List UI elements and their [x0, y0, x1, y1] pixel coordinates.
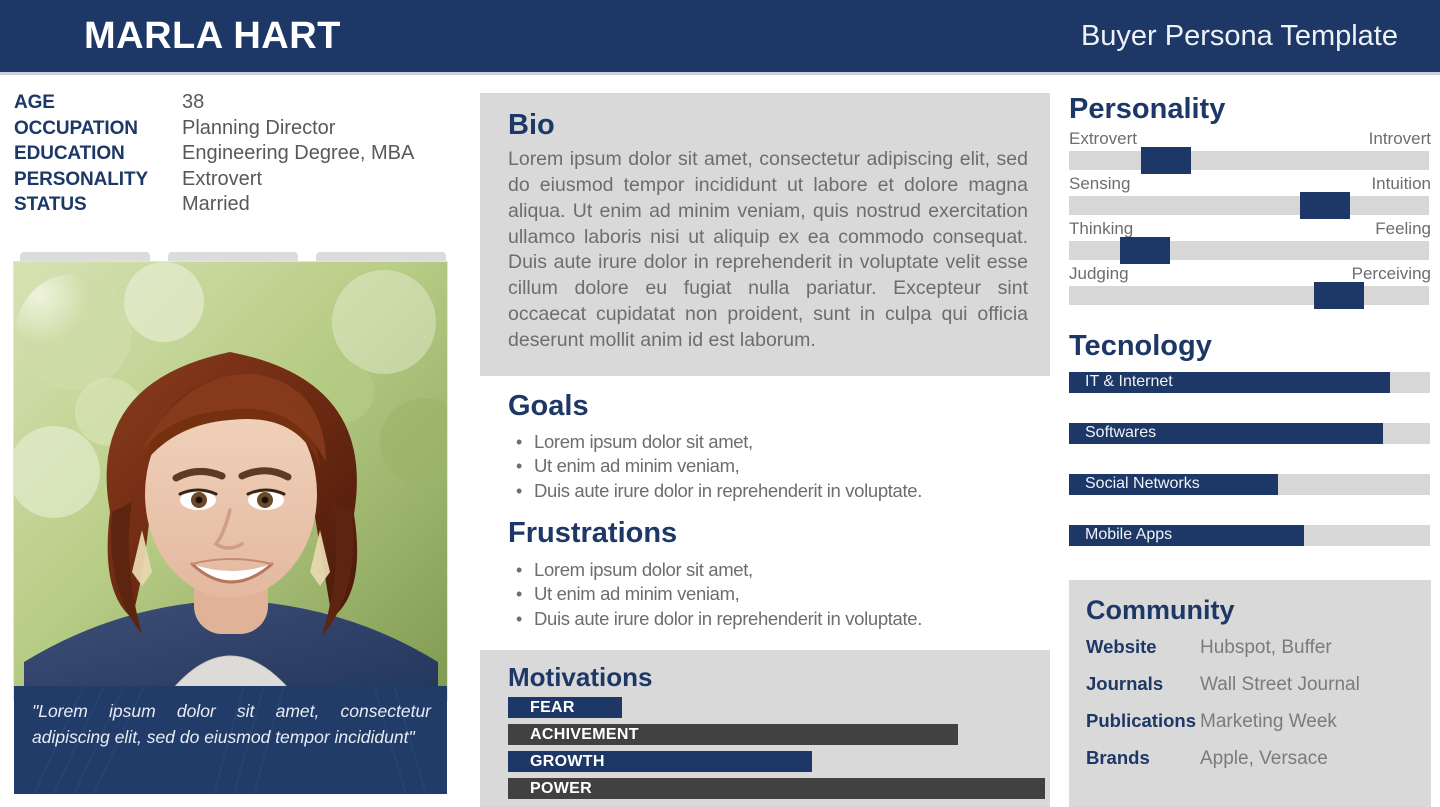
community-row: BrandsApple, Versace — [1086, 747, 1431, 770]
attribute-key: EDUCATION — [14, 141, 182, 167]
personality-slider[interactable]: JudgingPerceiving — [1069, 263, 1431, 305]
technology-label: Softwares — [1085, 423, 1156, 444]
community-panel: Community WebsiteHubspot, BufferJournals… — [1069, 580, 1431, 807]
slider-left-label: Judging — [1069, 263, 1129, 285]
slider-labels: ExtrovertIntrovert — [1069, 128, 1431, 150]
bullet-marker-icon: • — [510, 479, 534, 504]
community-row: JournalsWall Street Journal — [1086, 673, 1431, 696]
bullet-text: Lorem ipsum dolor sit amet, — [534, 430, 753, 455]
community-title: Community — [1086, 594, 1431, 626]
bullet-text: Lorem ipsum dolor sit amet, — [534, 558, 753, 583]
persona-photo — [14, 262, 447, 700]
persona-name: MARLA HART — [84, 17, 341, 55]
motivation-bar: GROWTH — [508, 751, 812, 772]
bullet-text: Duis aute irure dolor in reprehenderit i… — [534, 607, 922, 632]
bullet-text: Ut enim ad minim veniam, — [534, 454, 739, 479]
motivation-bar: ACHIVEMENT — [508, 724, 958, 745]
community-key: Publications — [1086, 710, 1200, 732]
bullet-marker-icon: • — [510, 558, 534, 583]
technology-title: Tecnology — [1069, 330, 1431, 363]
community-key: Brands — [1086, 747, 1200, 769]
attribute-key: OCCUPATION — [14, 116, 182, 142]
personality-slider[interactable]: SensingIntuition — [1069, 173, 1431, 215]
persona-quote: "Lorem ipsum dolor sit amet, consectetur… — [14, 686, 447, 794]
slider-labels: JudgingPerceiving — [1069, 263, 1431, 285]
motivations-bars: FEARACHIVEMENTGROWTHPOWER — [508, 697, 1050, 799]
attribute-key: AGE — [14, 90, 182, 116]
portrait-illustration — [14, 262, 447, 700]
technology-track: Mobile Apps — [1069, 525, 1430, 546]
slider-thumb[interactable] — [1120, 237, 1170, 264]
attribute-value: Planning Director — [182, 116, 335, 142]
motivation-bar: FEAR — [508, 697, 622, 718]
slider-right-label: Feeling — [1375, 218, 1431, 240]
slider-left-label: Extrovert — [1069, 128, 1137, 150]
community-key: Journals — [1086, 673, 1200, 695]
technology-bars: IT & InternetSoftwaresSocial NetworksMob… — [1069, 372, 1431, 546]
attribute-row: AGE38 — [14, 90, 462, 116]
attribute-value: Married — [182, 192, 250, 218]
technology-track: IT & Internet — [1069, 372, 1430, 393]
slider-track[interactable] — [1069, 196, 1429, 215]
motivation-bar: POWER — [508, 778, 1045, 799]
attribute-row: STATUSMarried — [14, 192, 462, 218]
frustrations-list: •Lorem ipsum dolor sit amet,•Ut enim ad … — [510, 558, 1028, 632]
header-bar: MARLA HART Buyer Persona Template — [0, 0, 1440, 72]
community-value: Hubspot, Buffer — [1200, 637, 1332, 659]
technology-label: Mobile Apps — [1085, 525, 1172, 546]
quote-text: "Lorem ipsum dolor sit amet, consectetur… — [32, 698, 431, 750]
slider-track[interactable] — [1069, 241, 1429, 260]
personality-slider[interactable]: ExtrovertIntrovert — [1069, 128, 1431, 170]
bio-title: Bio — [508, 107, 1028, 143]
frustration-item: •Lorem ipsum dolor sit amet, — [510, 558, 1028, 583]
header-divider — [0, 72, 1440, 75]
attribute-value: Engineering Degree, MBA — [182, 141, 414, 167]
community-rows: WebsiteHubspot, BufferJournalsWall Stree… — [1086, 636, 1431, 770]
slider-thumb[interactable] — [1314, 282, 1364, 309]
motivations-title: Motivations — [508, 662, 1050, 693]
slider-labels: SensingIntuition — [1069, 173, 1431, 195]
slider-right-label: Introvert — [1369, 128, 1431, 150]
attributes-table: AGE38OCCUPATIONPlanning DirectorEDUCATIO… — [14, 90, 462, 218]
persona-template-page: MARLA HART Buyer Persona Template AGE38O… — [0, 0, 1440, 807]
technology-track: Social Networks — [1069, 474, 1430, 495]
bullet-text: Ut enim ad minim veniam, — [534, 582, 739, 607]
template-title: Buyer Persona Template — [1081, 22, 1398, 51]
technology-label: Social Networks — [1085, 474, 1200, 495]
slider-thumb[interactable] — [1141, 147, 1191, 174]
slider-left-label: Sensing — [1069, 173, 1130, 195]
technology-track: Softwares — [1069, 423, 1430, 444]
content-column: Bio Lorem ipsum dolor sit amet, consecte… — [480, 93, 1050, 631]
bio-text: Lorem ipsum dolor sit amet, consectetur … — [508, 147, 1028, 353]
community-row: PublicationsMarketing Week — [1086, 710, 1431, 733]
bullet-marker-icon: • — [510, 430, 534, 455]
bullet-marker-icon: • — [510, 454, 534, 479]
attribute-row: OCCUPATIONPlanning Director — [14, 116, 462, 142]
community-value: Wall Street Journal — [1200, 674, 1360, 696]
slider-track[interactable] — [1069, 286, 1429, 305]
slider-track[interactable] — [1069, 151, 1429, 170]
goal-item: •Duis aute irure dolor in reprehenderit … — [510, 479, 1028, 504]
goal-item: •Ut enim ad minim veniam, — [510, 454, 1028, 479]
insights-column: Personality ExtrovertIntrovertSensingInt… — [1069, 93, 1431, 576]
bio-panel: Bio Lorem ipsum dolor sit amet, consecte… — [480, 93, 1050, 376]
frustration-item: •Duis aute irure dolor in reprehenderit … — [510, 607, 1028, 632]
community-key: Website — [1086, 636, 1200, 658]
bullet-marker-icon: • — [510, 607, 534, 632]
technology-label: IT & Internet — [1085, 372, 1173, 393]
personality-slider[interactable]: ThinkingFeeling — [1069, 218, 1431, 260]
attribute-row: PERSONALITYExtrovert — [14, 167, 462, 193]
goals-list: •Lorem ipsum dolor sit amet,•Ut enim ad … — [510, 430, 1028, 504]
slider-thumb[interactable] — [1300, 192, 1350, 219]
attribute-key: STATUS — [14, 192, 182, 218]
bullet-marker-icon: • — [510, 582, 534, 607]
goals-title: Goals — [508, 388, 1028, 424]
personality-title: Personality — [1069, 93, 1431, 126]
motivations-panel: Motivations FEARACHIVEMENTGROWTHPOWER — [480, 650, 1050, 807]
attribute-key: PERSONALITY — [14, 167, 182, 193]
personality-sliders: ExtrovertIntrovertSensingIntuitionThinki… — [1069, 128, 1431, 305]
community-value: Marketing Week — [1200, 711, 1337, 733]
bullet-text: Duis aute irure dolor in reprehenderit i… — [534, 479, 922, 504]
attribute-value: 38 — [182, 90, 204, 116]
community-row: WebsiteHubspot, Buffer — [1086, 636, 1431, 659]
profile-column: AGE38OCCUPATIONPlanning DirectorEDUCATIO… — [0, 90, 462, 286]
community-value: Apple, Versace — [1200, 748, 1328, 770]
goals-frustrations-block: Goals •Lorem ipsum dolor sit amet,•Ut en… — [480, 388, 1050, 632]
goal-item: •Lorem ipsum dolor sit amet, — [510, 430, 1028, 455]
attribute-value: Extrovert — [182, 167, 262, 193]
frustrations-title: Frustrations — [508, 515, 1028, 551]
slider-right-label: Intuition — [1371, 173, 1431, 195]
attribute-row: EDUCATIONEngineering Degree, MBA — [14, 141, 462, 167]
frustration-item: •Ut enim ad minim veniam, — [510, 582, 1028, 607]
